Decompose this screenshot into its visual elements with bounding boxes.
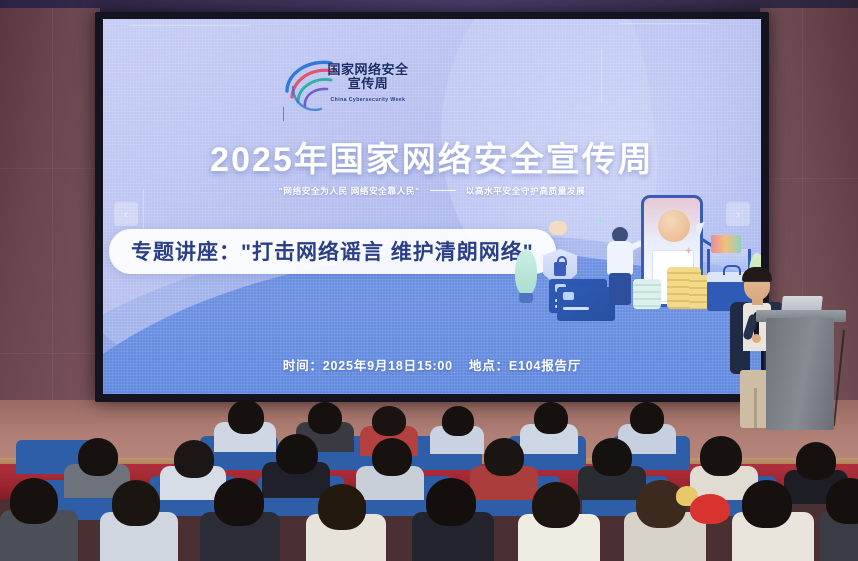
logo-title-line1: 国家网络安全 — [327, 63, 409, 77]
person-head — [308, 402, 342, 434]
slide-hairline — [619, 23, 709, 24]
person-head — [796, 442, 836, 480]
logo-title-line2: 宣传周 — [327, 77, 409, 91]
person-head — [630, 402, 664, 434]
red-cap-icon — [690, 494, 730, 524]
logo-title: 国家网络安全 宣传周 — [327, 63, 409, 91]
person-head — [78, 438, 118, 476]
wall-seam — [0, 353, 100, 354]
time-value: 2025年9月18日15:00 — [323, 359, 453, 373]
wall-seam — [52, 8, 53, 428]
lecture-title-pill: 专题讲座："打击网络谣言 维护清朗网络" — [109, 229, 556, 274]
coin-stack-icon — [633, 279, 661, 309]
person-head — [276, 434, 318, 474]
person-head — [174, 440, 214, 478]
tree-icon — [515, 249, 537, 295]
place-label: 地点： — [469, 359, 509, 373]
cart-goods — [711, 235, 741, 253]
person-head — [534, 402, 568, 434]
subtitle-dash — [430, 190, 456, 191]
person-head — [10, 478, 58, 524]
wall-seam — [0, 168, 100, 169]
hand — [752, 334, 761, 343]
cyber-security-illustration — [511, 129, 761, 359]
slide-hairline — [601, 49, 602, 103]
person-head — [228, 400, 264, 434]
person-head — [112, 480, 160, 526]
hair — [742, 267, 772, 282]
slide-hairline — [129, 25, 249, 26]
lock-icon — [554, 262, 566, 276]
wall-seam — [760, 178, 858, 179]
seated-audience — [0, 400, 858, 561]
person-head — [700, 436, 742, 476]
chevron-left-icon: ‹ — [124, 208, 128, 220]
slide-subtitle-quote: "网络安全为人民 网络安全靠人民" — [279, 186, 420, 196]
projection-screen: ‹ › 国家网络安全 宣传周 China Cybersecurity Week … — [103, 19, 761, 394]
person-head — [372, 438, 412, 476]
card-stripe — [563, 307, 589, 310]
id-portrait-icon — [658, 210, 690, 242]
left-wall — [0, 8, 100, 428]
person-head — [442, 406, 474, 436]
auditorium-scene: ‹ › 国家网络安全 宣传周 China Cybersecurity Week … — [0, 0, 858, 561]
slide-prev-button[interactable]: ‹ — [114, 202, 138, 226]
logo-english-label: China Cybersecurity Week — [321, 97, 415, 103]
time-label: 时间： — [283, 359, 323, 373]
sparkle-icon — [597, 217, 604, 224]
person-head — [532, 482, 580, 528]
plant-pot-icon — [519, 293, 533, 303]
glasses-icon — [745, 281, 769, 287]
person-head — [318, 484, 366, 530]
person-head — [592, 438, 632, 476]
person-head — [742, 480, 792, 528]
speech-bubble-icon — [549, 221, 567, 235]
person-head — [372, 406, 406, 436]
person-head — [426, 478, 476, 526]
person-head — [484, 438, 524, 476]
standing-person-icon — [603, 227, 637, 305]
china-cybersecurity-week-logo: 国家网络安全 宣传周 China Cybersecurity Week — [281, 55, 411, 117]
person-legs — [609, 273, 631, 305]
card-chip — [563, 292, 574, 300]
place-value: E104报告厅 — [509, 359, 581, 373]
person-head — [214, 478, 264, 526]
